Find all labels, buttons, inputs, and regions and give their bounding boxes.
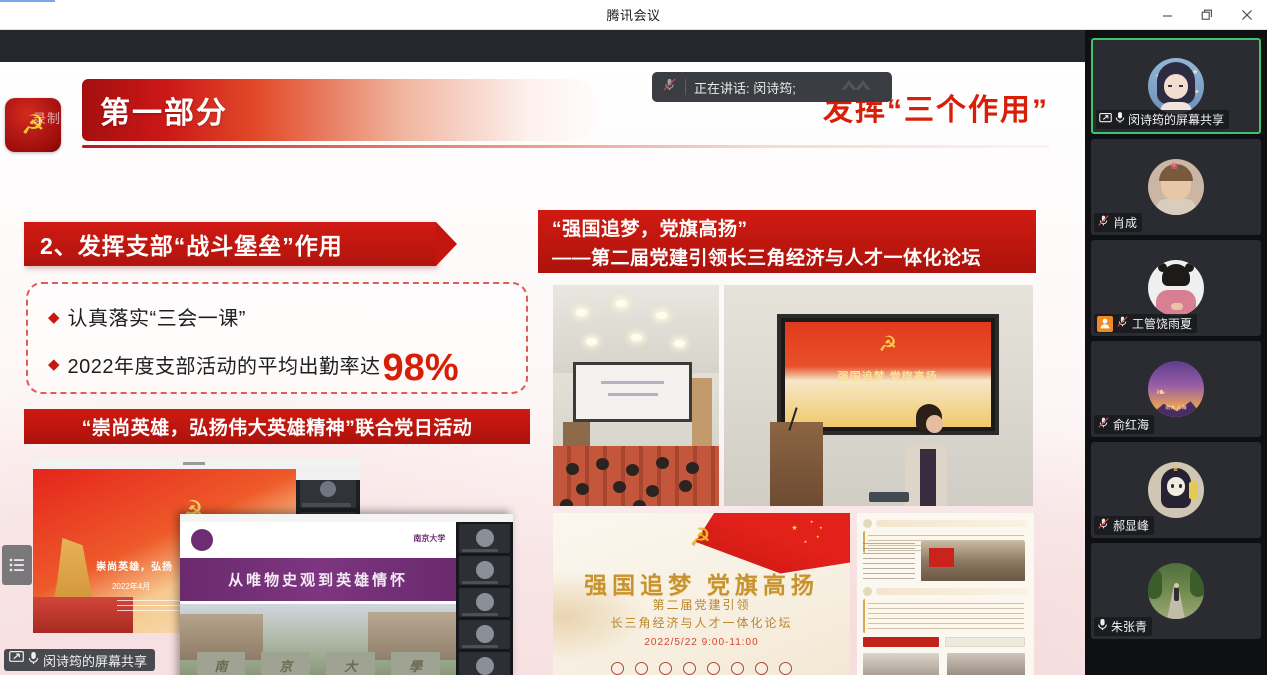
- window-controls: [1147, 0, 1267, 30]
- restore-icon[interactable]: [1187, 0, 1227, 30]
- avatar: [1148, 563, 1204, 619]
- microphone-icon: [1115, 111, 1125, 129]
- avatar: ♛: [1148, 462, 1204, 518]
- screen-share-status-badge: 闵诗筠的屏幕共享: [4, 649, 155, 671]
- screen-share-icon: [9, 651, 24, 669]
- party-emblem-icon: ☭: [21, 112, 45, 139]
- party-emblem-icon: ☭: [690, 523, 712, 552]
- stone-char: 學: [391, 652, 440, 675]
- shared-screen-stage[interactable]: 第一部分 发挥“三个作用” 2、发挥支部“战斗堡垒”作用 ◆ 认真落实“三会一课…: [0, 30, 1085, 675]
- stone-char: 南: [197, 652, 246, 675]
- bullet-highlight-value: 98%: [383, 353, 459, 383]
- stone-char: 大: [326, 652, 375, 675]
- header-divider: [82, 145, 1050, 148]
- avatar: [1148, 260, 1204, 316]
- participant-tile-gongguanraoyuxia[interactable]: 工管饶雨夏: [1091, 240, 1261, 336]
- activity-banner-label: “崇尚英雄，弘扬伟大英雄精神”联合党日活动: [82, 413, 473, 440]
- party-emblem-badge: ☭: [5, 98, 61, 152]
- bullet-item: ◆ 认真落实“三会一课”: [48, 302, 506, 331]
- participant-tile-minshiyun[interactable]: ★ ★ ✦: [1091, 38, 1261, 134]
- section-banner-label: 2、发挥支部“战斗堡垒”作用: [40, 227, 343, 261]
- forum-banner-line2: ——第二届党建引领长三角经济与人才一体化论坛: [552, 243, 1036, 270]
- participant-name: 郝显峰: [1113, 517, 1149, 534]
- microphone-muted-icon: [1097, 214, 1110, 232]
- tencent-meeting-logo-icon: [838, 76, 884, 102]
- photo-meeting-screenshot-2: 南京大学 从唯物史观到英雄情怀 南 京 大 學: [180, 514, 513, 675]
- microphone-muted-icon: [1116, 315, 1129, 333]
- participant-name: 闵诗筠的屏幕共享: [1128, 111, 1224, 128]
- microphone-muted-icon: [1097, 517, 1110, 535]
- screen-share-status-text: 闵诗筠的屏幕共享: [43, 651, 147, 670]
- avatar: ❧ 南大 人海: [1148, 361, 1204, 417]
- poster-subtitle-1: 第二届党建引领: [553, 596, 850, 613]
- participant-label: 肖成: [1094, 213, 1142, 232]
- screenshot-slide-title: 崇尚英雄，弘扬: [96, 558, 173, 573]
- participant-rail[interactable]: ★ ★ ✦: [1085, 30, 1267, 675]
- avatar: ❀: [1148, 159, 1204, 215]
- stage-top-strip: [0, 30, 1085, 62]
- active-speaker-pill: 正在讲话: 闵诗筠;: [652, 72, 892, 102]
- microphone-icon: [28, 651, 39, 670]
- participant-label: 郝显峰: [1094, 516, 1154, 535]
- participant-tile-yuhonghai[interactable]: ❧ 南大 人海 俞红海: [1091, 341, 1261, 437]
- participant-name: 俞红海: [1113, 416, 1149, 433]
- photo-forum-speaker: ☭ 强国追梦 党旗高扬 第二届党建引领长三角经济与人才一体化论坛: [724, 285, 1033, 506]
- forum-banner-line1: “强国追梦，党旗高扬”: [552, 214, 1036, 241]
- section-banner: 2、发挥支部“战斗堡垒”作用: [24, 222, 436, 266]
- projection-screen: [573, 362, 693, 422]
- participant-tile-xiaocheng[interactable]: ❀ 肖成: [1091, 139, 1261, 235]
- participant-name: 朱张青: [1111, 618, 1147, 635]
- avatar: ★ ★ ✦: [1148, 58, 1204, 114]
- projection-screen: ☭ 强国追梦 党旗高扬 第二届党建引领长三角经济与人才一体化论坛: [777, 314, 999, 436]
- screen-title: 强国追梦 党旗高扬: [785, 368, 991, 384]
- participant-name: 工管饶雨夏: [1132, 315, 1192, 332]
- close-icon[interactable]: [1227, 0, 1267, 30]
- tencent-meeting-window: 腾讯会议: [0, 0, 1267, 675]
- bullet-box: ◆ 认真落实“三会一课” ◆ 2022年度支部活动的平均出勤率达 98%: [26, 282, 528, 394]
- activity-banner: “崇尚英雄，弘扬伟大英雄精神”联合党日活动: [24, 409, 530, 444]
- screen-share-icon: [1099, 111, 1112, 129]
- participant-label: 闵诗筠的屏幕共享: [1096, 110, 1229, 129]
- participant-label: 工管饶雨夏: [1094, 314, 1197, 333]
- title-bar: 腾讯会议: [0, 0, 1267, 30]
- photo-lecture-hall-audience: [553, 285, 719, 506]
- diamond-bullet-icon: ◆: [48, 355, 60, 373]
- stone-char: 京: [261, 652, 310, 675]
- minimize-icon[interactable]: [1147, 0, 1187, 30]
- participant-name: 肖成: [1113, 214, 1137, 231]
- poster-subtitle-2: 长三角经济与人才一体化论坛: [553, 614, 850, 631]
- microphone-muted-icon: [1097, 416, 1110, 434]
- active-speaker-text: 正在讲话: 闵诗筠;: [694, 78, 796, 97]
- poster-university-logos: [553, 662, 850, 675]
- microphone-icon: [1097, 618, 1108, 636]
- slide-part-label: 第一部分: [100, 88, 228, 132]
- photo-article-screenshot: [857, 513, 1034, 675]
- title-bar-accent: [0, 0, 55, 2]
- participant-label: 俞红海: [1094, 415, 1154, 434]
- screen-subtitle: 第二届党建引领长三角经济与人才一体化论坛: [785, 385, 991, 394]
- app-title: 腾讯会议: [606, 5, 660, 24]
- slide-header: 第一部分 发挥“三个作用”: [0, 79, 1085, 151]
- university-name: 南京大学: [413, 533, 445, 544]
- diamond-bullet-icon: ◆: [48, 308, 60, 326]
- host-badge-icon: [1097, 316, 1113, 332]
- screenshot-band-title: 从唯物史观到英雄情怀: [228, 569, 408, 590]
- bullet-item: ◆ 2022年度支部活动的平均出勤率达 98%: [48, 349, 506, 379]
- participant-tile-haoxianfeng[interactable]: ♛ 郝显峰: [1091, 442, 1261, 538]
- bullet-text: 2022年度支部活动的平均出勤率达: [68, 350, 381, 379]
- list-menu-icon[interactable]: [2, 545, 32, 585]
- slide-part-badge: 第一部分: [82, 79, 602, 141]
- forum-banner: “强国追梦，党旗高扬” ——第二届党建引领长三角经济与人才一体化论坛: [538, 210, 1036, 273]
- participant-label: 朱张青: [1094, 617, 1152, 636]
- screenshot-slide-date: 2022年4月: [112, 581, 150, 592]
- microphone-muted-icon: [662, 77, 677, 97]
- participant-tile-zhuzhangqing[interactable]: 朱张青: [1091, 543, 1261, 639]
- photo-forum-poster: ★ ★ ★ ★ ★ ☭ 强国追梦 党旗高扬 第二届党建引领 长三角经济与人才一体…: [553, 513, 850, 675]
- poster-datetime: 2022/5/22 9:00-11:00: [553, 637, 850, 648]
- bullet-text: 认真落实“三会一课”: [68, 302, 246, 331]
- shared-slide: 第一部分 发挥“三个作用” 2、发挥支部“战斗堡垒”作用 ◆ 认真落实“三会一课…: [0, 62, 1085, 675]
